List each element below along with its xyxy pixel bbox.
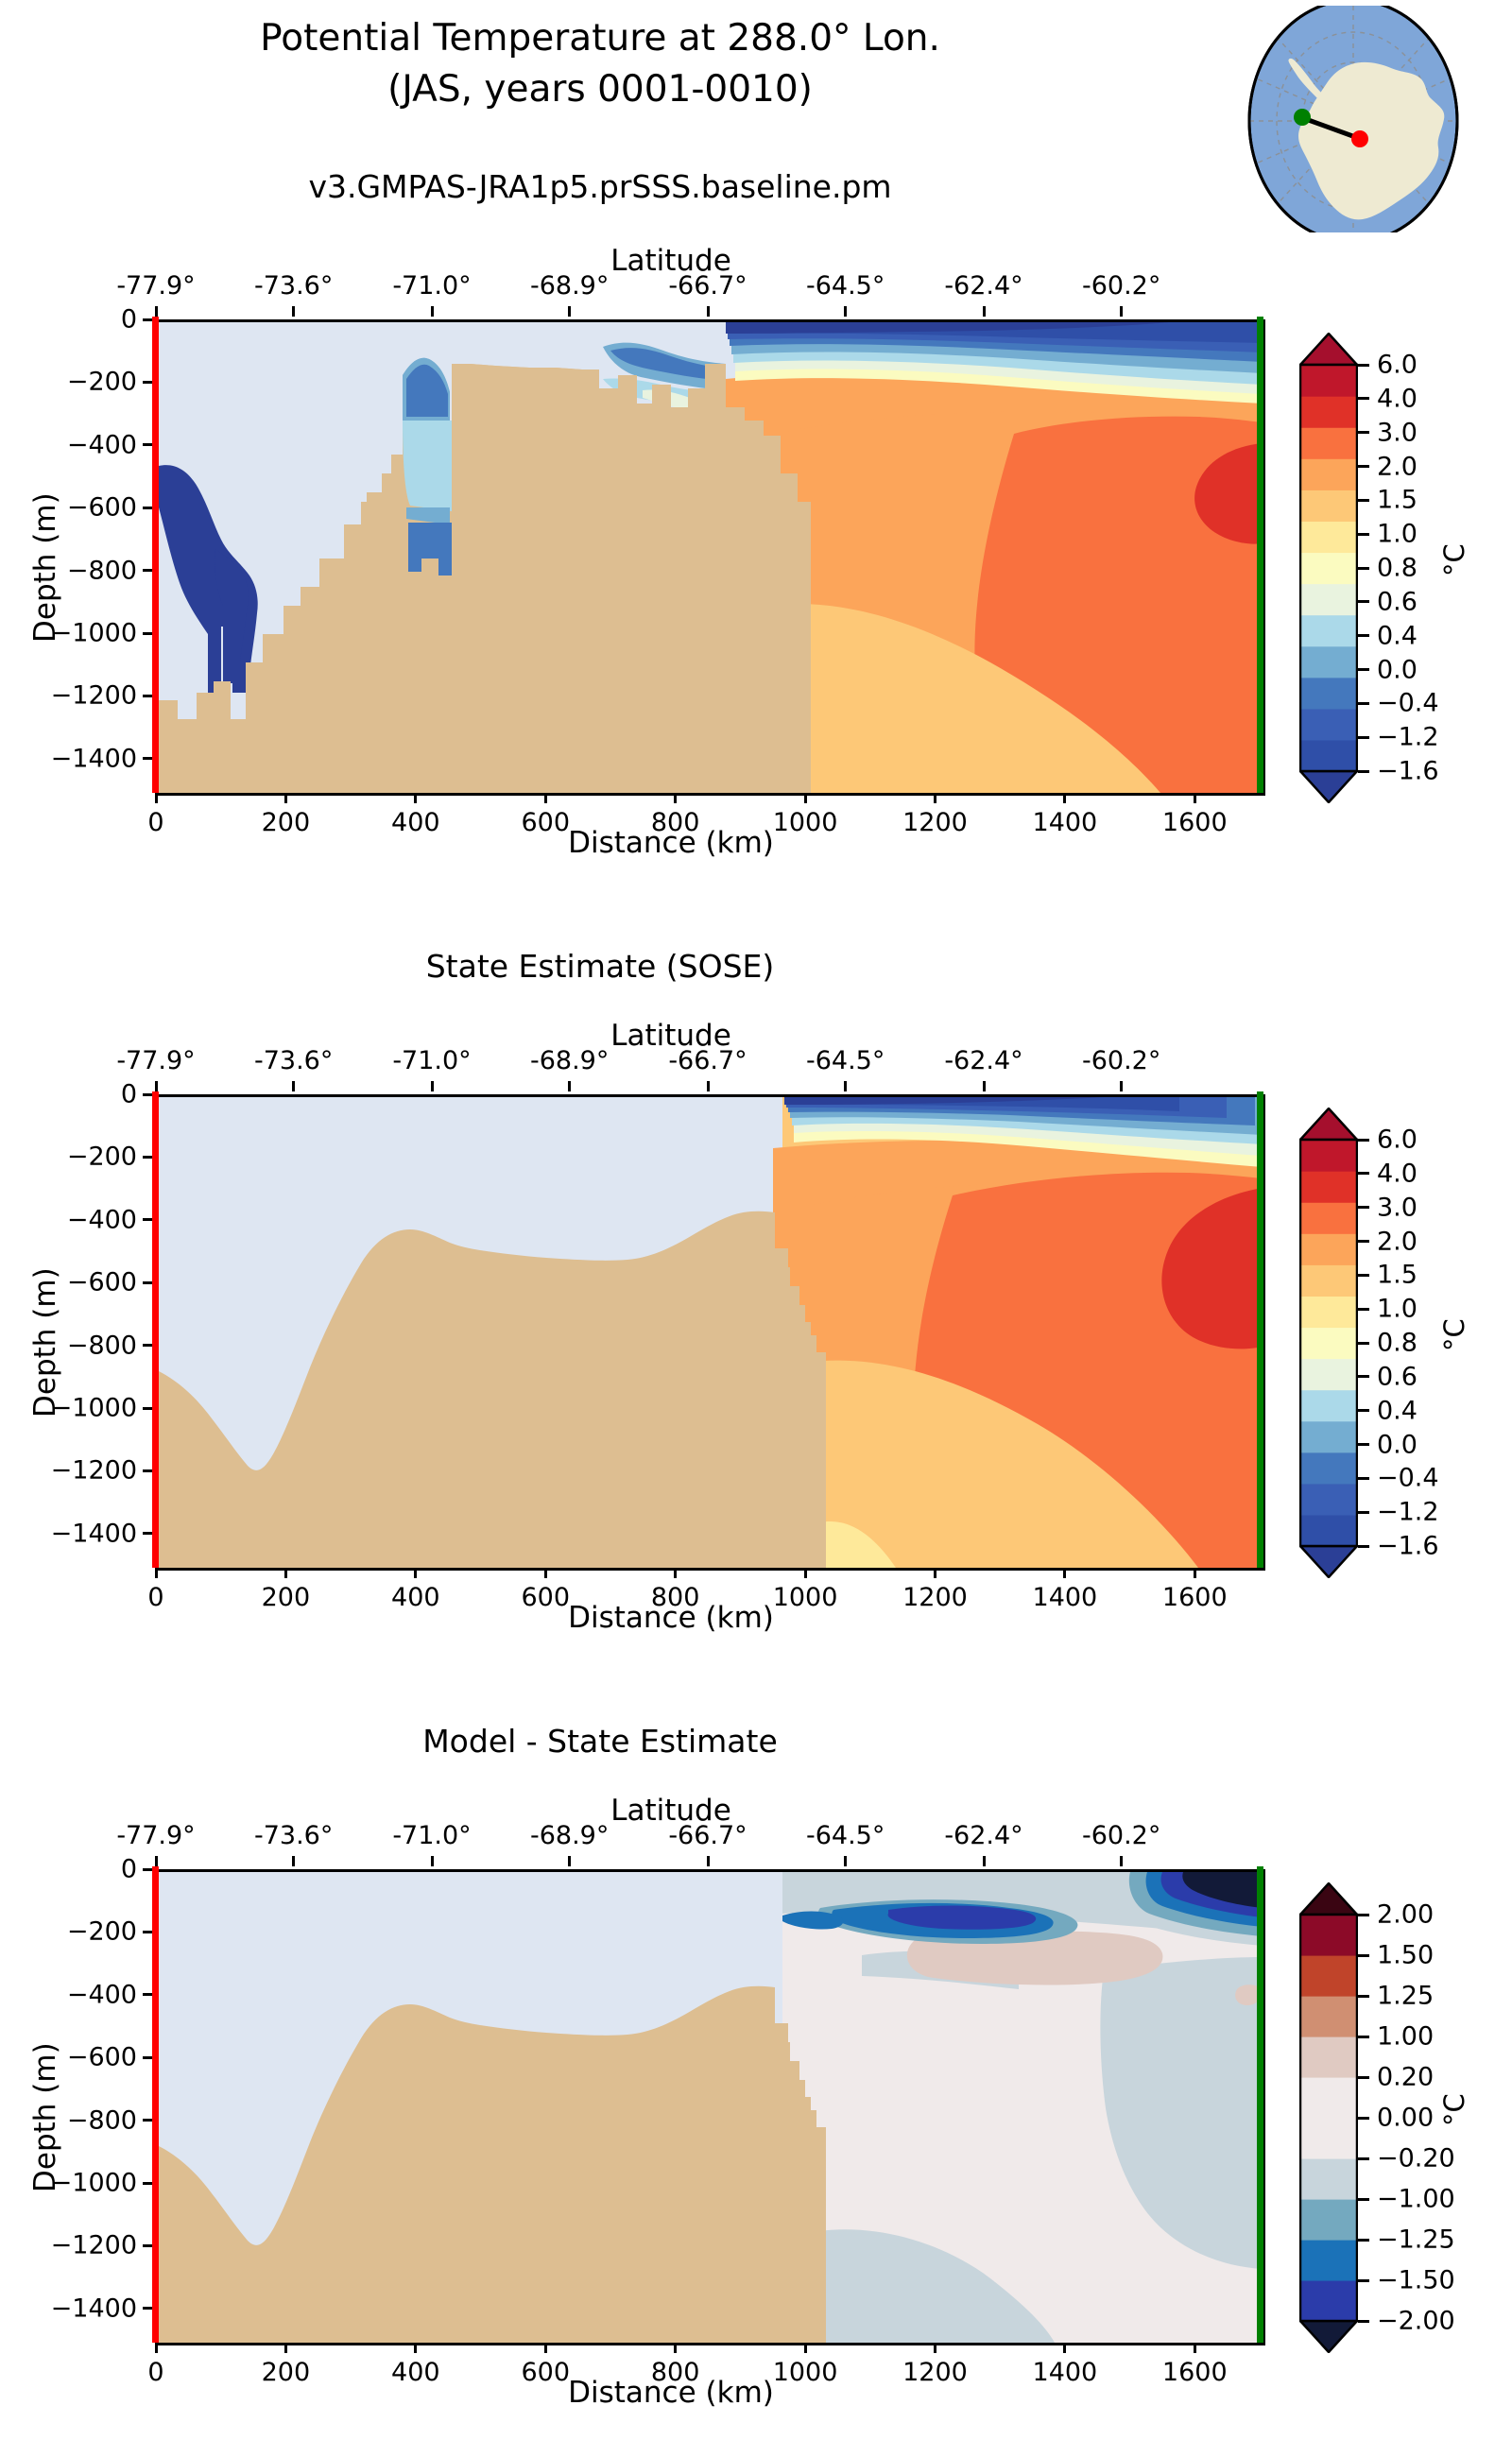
y-tick-label: −1400 bbox=[0, 1519, 137, 1548]
x-tick-label: 800 bbox=[651, 2358, 700, 2387]
colorbar-tick-label: 3.0 bbox=[1377, 418, 1417, 447]
y-tick-label: −1200 bbox=[0, 1456, 137, 1486]
colorbar-tick bbox=[1358, 736, 1369, 739]
y-tick-label: −800 bbox=[0, 2105, 137, 2135]
x-tick bbox=[284, 793, 287, 803]
latitude-tick-label: -60.2° bbox=[1082, 1821, 1160, 1850]
x-tick bbox=[1063, 2343, 1066, 2353]
x-tick bbox=[1063, 1568, 1066, 1578]
latitude-tick bbox=[431, 1856, 434, 1866]
colorbar-tick bbox=[1358, 2320, 1369, 2323]
colorbar-tick bbox=[1358, 1342, 1369, 1345]
colorbar-tick bbox=[1358, 1139, 1369, 1142]
colorbar-tick-label: 3.0 bbox=[1377, 1193, 1417, 1222]
transect-start-marker-bar bbox=[152, 1091, 159, 1568]
x-tick-label: 1200 bbox=[902, 808, 968, 837]
colorbar-tick-label: 0.20 bbox=[1377, 2063, 1434, 2092]
colorbar-tick bbox=[1358, 1954, 1369, 1957]
latitude-tick bbox=[292, 1856, 295, 1866]
y-tick-label: −1000 bbox=[0, 619, 137, 648]
x-tick-label: 0 bbox=[147, 2358, 163, 2387]
latitude-tick-label: -66.7° bbox=[668, 1046, 747, 1075]
x-tick bbox=[284, 1568, 287, 1578]
x-tick-label: 600 bbox=[521, 808, 570, 837]
latitude-tick-label: -66.7° bbox=[668, 271, 747, 301]
colorbar-tick-label: 0.6 bbox=[1377, 587, 1417, 616]
x-tick-label: 1000 bbox=[773, 808, 838, 837]
colorbar-tick bbox=[1358, 2279, 1369, 2282]
colorbar-tick bbox=[1358, 634, 1369, 637]
latitude-tick-label: -64.5° bbox=[806, 1046, 885, 1075]
latitude-tick-label: -66.7° bbox=[668, 1821, 747, 1850]
latitude-tick-label: -64.5° bbox=[806, 271, 885, 301]
latitude-tick bbox=[1120, 1081, 1123, 1091]
colorbar-tick-label: 6.0 bbox=[1377, 351, 1417, 380]
latitude-tick bbox=[983, 1081, 986, 1091]
x-tick bbox=[1194, 2343, 1196, 2353]
colorbar-tick bbox=[1358, 1545, 1369, 1548]
colorbar-tick bbox=[1358, 2036, 1369, 2038]
y-tick-label: 0 bbox=[0, 1080, 137, 1109]
latitude-tick-label: -62.4° bbox=[944, 1821, 1022, 1850]
transect-end-marker-bar bbox=[1257, 1091, 1263, 1568]
colorbar-tick-label: −1.00 bbox=[1377, 2185, 1455, 2214]
colorbar-tick bbox=[1358, 2239, 1369, 2242]
colorbar-tick bbox=[1358, 1206, 1369, 1209]
x-tick bbox=[804, 793, 807, 803]
x-tick-label: 1000 bbox=[773, 2358, 838, 2387]
x-tick-label: 1600 bbox=[1162, 2358, 1228, 2387]
latitude-tick-label: -77.9° bbox=[116, 1821, 195, 1850]
transect-end-marker-bar bbox=[1257, 1866, 1263, 2343]
y-tick-label: −1200 bbox=[0, 2231, 137, 2260]
colorbar-tick bbox=[1358, 533, 1369, 536]
latitude-tick bbox=[292, 306, 295, 317]
x-tick bbox=[674, 793, 677, 803]
x-tick-label: 600 bbox=[521, 2358, 570, 2387]
colorbar-tick-label: 0.0 bbox=[1377, 655, 1417, 684]
x-tick bbox=[414, 1568, 417, 1578]
colorbar-tick-label: 2.0 bbox=[1377, 1227, 1417, 1256]
latitude-tick bbox=[844, 306, 847, 317]
colorbar-tick bbox=[1358, 1240, 1369, 1243]
y-tick-label: −400 bbox=[0, 1980, 137, 2009]
colorbar-tick bbox=[1358, 465, 1369, 468]
x-tick bbox=[1063, 793, 1066, 803]
latitude-tick bbox=[707, 1856, 710, 1866]
colorbar-tick bbox=[1358, 431, 1369, 434]
latitude-tick bbox=[431, 1081, 434, 1091]
x-tick-label: 0 bbox=[147, 808, 163, 837]
colorbar-tick bbox=[1358, 1511, 1369, 1514]
colorbar-tick bbox=[1358, 567, 1369, 570]
latitude-tick-label: -68.9° bbox=[530, 1046, 609, 1075]
latitude-tick bbox=[707, 1081, 710, 1091]
y-tick-label: −1000 bbox=[0, 2169, 137, 2198]
x-tick-label: 1400 bbox=[1033, 1583, 1098, 1612]
latitude-tick bbox=[431, 306, 434, 317]
transect-end-marker bbox=[1294, 109, 1311, 126]
colorbar-sose bbox=[1299, 1108, 1358, 1578]
x-tick-label: 0 bbox=[147, 1583, 163, 1612]
colorbar-tick bbox=[1358, 1274, 1369, 1277]
latitude-tick-label: -62.4° bbox=[944, 1046, 1022, 1075]
x-tick-label: 1000 bbox=[773, 1583, 838, 1612]
latitude-tick-label: -64.5° bbox=[806, 1821, 885, 1850]
x-tick bbox=[804, 2343, 807, 2353]
colorbar-tick-label: −1.6 bbox=[1377, 1532, 1439, 1561]
x-tick bbox=[674, 2343, 677, 2353]
colorbar-tick-label: −0.4 bbox=[1377, 689, 1439, 718]
x-tick bbox=[284, 2343, 287, 2353]
x-tick bbox=[804, 1568, 807, 1578]
colorbar-tick bbox=[1358, 770, 1369, 773]
plot-area-sose bbox=[156, 1094, 1265, 1571]
latitude-tick bbox=[844, 1081, 847, 1091]
x-tick bbox=[934, 1568, 936, 1578]
latitude-tick-label: -68.9° bbox=[530, 271, 609, 301]
colorbar-tick-label: 1.5 bbox=[1377, 486, 1417, 515]
colorbar-tick bbox=[1358, 1172, 1369, 1175]
colorbar-tick-label: 6.0 bbox=[1377, 1125, 1417, 1155]
latitude-tick-label: -68.9° bbox=[530, 1821, 609, 1850]
latitude-tick bbox=[568, 1081, 571, 1091]
colorbar-tick bbox=[1358, 499, 1369, 502]
x-tick-label: 400 bbox=[391, 2358, 440, 2387]
x-tick bbox=[414, 2343, 417, 2353]
latitude-tick bbox=[844, 1856, 847, 1866]
latitude-tick bbox=[155, 306, 158, 317]
colorbar-tick-label: 1.0 bbox=[1377, 1295, 1417, 1324]
x-tick-label: 1200 bbox=[902, 1583, 968, 1612]
x-tick bbox=[414, 793, 417, 803]
y-tick-label: −600 bbox=[0, 2043, 137, 2072]
latitude-tick bbox=[568, 1856, 571, 1866]
latitude-tick-label: -73.6° bbox=[254, 1821, 333, 1850]
colorbar-tick bbox=[1358, 1409, 1369, 1412]
y-tick-label: 0 bbox=[0, 305, 137, 335]
latitude-tick-label: -71.0° bbox=[392, 1046, 471, 1075]
colorbar-tick-label: −2.00 bbox=[1377, 2307, 1455, 2336]
x-tick bbox=[544, 793, 547, 803]
colorbar-tick-label: 4.0 bbox=[1377, 384, 1417, 413]
colorbar-tick-label: −1.2 bbox=[1377, 723, 1439, 752]
colorbar-tick bbox=[1358, 1477, 1369, 1480]
x-tick bbox=[934, 793, 936, 803]
colorbar-tick bbox=[1358, 2117, 1369, 2120]
colorbar-unit-3: °C bbox=[1438, 2093, 1470, 2126]
colorbar-tick bbox=[1358, 1375, 1369, 1378]
colorbar-tick-label: −1.50 bbox=[1377, 2266, 1455, 2295]
latitude-tick bbox=[155, 1856, 158, 1866]
x-tick-label: 200 bbox=[262, 2358, 311, 2387]
colorbar-tick-label: 0.8 bbox=[1377, 554, 1417, 583]
colorbar-tick bbox=[1358, 364, 1369, 367]
plot-area-diff bbox=[156, 1869, 1265, 2345]
colorbar-tick-label: 1.00 bbox=[1377, 2022, 1434, 2052]
y-tick-label: −400 bbox=[0, 430, 137, 459]
x-tick bbox=[934, 2343, 936, 2353]
x-tick bbox=[544, 2343, 547, 2353]
colorbar-diff bbox=[1299, 1882, 1358, 2353]
colorbar-tick-label: 2.0 bbox=[1377, 452, 1417, 481]
antarctica-locator-map bbox=[1211, 6, 1495, 232]
colorbar-tick bbox=[1358, 600, 1369, 603]
x-tick-label: 200 bbox=[262, 1583, 311, 1612]
x-tick bbox=[1194, 1568, 1196, 1578]
colorbar-tick bbox=[1358, 1995, 1369, 1998]
x-tick-label: 1400 bbox=[1033, 2358, 1098, 2387]
y-tick-label: −600 bbox=[0, 1268, 137, 1297]
x-tick bbox=[674, 1568, 677, 1578]
x-tick-label: 400 bbox=[391, 1583, 440, 1612]
transect-start-marker bbox=[1351, 130, 1368, 147]
latitude-tick-label: -73.6° bbox=[254, 1046, 333, 1075]
x-tick-label: 1400 bbox=[1033, 808, 1098, 837]
latitude-tick-label: -60.2° bbox=[1082, 271, 1160, 301]
colorbar-tick bbox=[1358, 668, 1369, 671]
x-tick bbox=[544, 1568, 547, 1578]
colorbar-unit-1: °C bbox=[1438, 543, 1470, 576]
latitude-tick bbox=[1120, 1856, 1123, 1866]
transect-start-marker-bar bbox=[152, 317, 159, 793]
figure-title-line2: (JAS, years 0001-0010) bbox=[0, 64, 1200, 115]
latitude-tick-label: -71.0° bbox=[392, 1821, 471, 1850]
y-tick-label: −1400 bbox=[0, 744, 137, 773]
y-tick-label: −1200 bbox=[0, 681, 137, 711]
x-tick-label: 1600 bbox=[1162, 1583, 1228, 1612]
colorbar-tick-label: 1.0 bbox=[1377, 520, 1417, 549]
latitude-tick-label: -71.0° bbox=[392, 271, 471, 301]
colorbar-tick-label: 0.4 bbox=[1377, 621, 1417, 650]
latitude-tick-label: -62.4° bbox=[944, 271, 1022, 301]
colorbar-tick bbox=[1358, 397, 1369, 400]
latitude-tick-label: -73.6° bbox=[254, 271, 333, 301]
y-tick-label: −200 bbox=[0, 1917, 137, 1947]
x-tick-label: 1200 bbox=[902, 2358, 968, 2387]
y-tick-label: −800 bbox=[0, 1331, 137, 1360]
x-tick bbox=[1194, 793, 1196, 803]
figure-title: Potential Temperature at 288.0° Lon. (JA… bbox=[0, 13, 1200, 115]
x-tick-label: 1600 bbox=[1162, 808, 1228, 837]
colorbar-tick bbox=[1358, 1308, 1369, 1311]
y-tick-label: −600 bbox=[0, 493, 137, 523]
y-tick-label: −200 bbox=[0, 368, 137, 397]
transect-end-marker-bar bbox=[1257, 317, 1263, 793]
latitude-tick bbox=[707, 306, 710, 317]
colorbar-tick-label: 0.0 bbox=[1377, 1430, 1417, 1459]
x-tick-label: 800 bbox=[651, 1583, 700, 1612]
colorbar-tick-label: −1.2 bbox=[1377, 1498, 1439, 1527]
latitude-tick-label: -77.9° bbox=[116, 1046, 195, 1075]
x-tick-label: 200 bbox=[262, 808, 311, 837]
latitude-tick bbox=[155, 1081, 158, 1091]
colorbar-tick-label: 1.50 bbox=[1377, 1941, 1434, 1970]
colorbar-tick-label: 0.4 bbox=[1377, 1396, 1417, 1425]
colorbar-tick-label: 0.6 bbox=[1377, 1362, 1417, 1391]
x-tick-label: 400 bbox=[391, 808, 440, 837]
latitude-tick-label: -60.2° bbox=[1082, 1046, 1160, 1075]
colorbar-tick-label: −1.25 bbox=[1377, 2225, 1455, 2255]
colorbar-tick bbox=[1358, 1443, 1369, 1446]
colorbar-tick-label: 1.25 bbox=[1377, 1982, 1434, 2011]
panel-title-sose: State Estimate (SOSE) bbox=[0, 948, 1200, 985]
transect-start-marker-bar bbox=[152, 1866, 159, 2343]
x-tick bbox=[155, 1568, 158, 1578]
colorbar-tick bbox=[1358, 702, 1369, 705]
y-tick-label: −1000 bbox=[0, 1394, 137, 1423]
colorbar-tick bbox=[1358, 2076, 1369, 2079]
colorbar-tick-label: 0.8 bbox=[1377, 1329, 1417, 1358]
colorbar-tick bbox=[1358, 1914, 1369, 1916]
colorbar-tick-label: 4.0 bbox=[1377, 1159, 1417, 1188]
colorbar-model bbox=[1299, 333, 1358, 803]
colorbar-tick bbox=[1358, 2157, 1369, 2160]
figure-title-line1: Potential Temperature at 288.0° Lon. bbox=[0, 13, 1200, 64]
y-tick-label: −400 bbox=[0, 1205, 137, 1234]
colorbar-tick-label: 0.00 bbox=[1377, 2104, 1434, 2133]
panel-title-model: v3.GMPAS-JRA1p5.prSSS.baseline.pm bbox=[0, 168, 1200, 205]
colorbar-tick-label: −0.4 bbox=[1377, 1464, 1439, 1493]
colorbar-tick-label: 1.5 bbox=[1377, 1261, 1417, 1290]
y-tick-label: 0 bbox=[0, 1855, 137, 1884]
latitude-tick bbox=[983, 1856, 986, 1866]
x-tick-label: 600 bbox=[521, 1583, 570, 1612]
colorbar-tick-label: 2.00 bbox=[1377, 1900, 1434, 1930]
x-tick-label: 800 bbox=[651, 808, 700, 837]
latitude-tick bbox=[1120, 306, 1123, 317]
y-tick-label: −1400 bbox=[0, 2294, 137, 2323]
panel-title-diff: Model - State Estimate bbox=[0, 1723, 1200, 1760]
plot-area-model bbox=[156, 319, 1265, 796]
colorbar-unit-2: °C bbox=[1438, 1318, 1470, 1351]
latitude-tick bbox=[983, 306, 986, 317]
x-tick bbox=[155, 793, 158, 803]
colorbar-tick-label: −0.20 bbox=[1377, 2144, 1455, 2173]
y-tick-label: −200 bbox=[0, 1143, 137, 1172]
latitude-tick bbox=[568, 306, 571, 317]
latitude-tick-label: -77.9° bbox=[116, 271, 195, 301]
x-tick bbox=[155, 2343, 158, 2353]
latitude-tick bbox=[292, 1081, 295, 1091]
colorbar-tick-label: −1.6 bbox=[1377, 757, 1439, 786]
y-tick-label: −800 bbox=[0, 556, 137, 585]
colorbar-tick bbox=[1358, 2198, 1369, 2201]
